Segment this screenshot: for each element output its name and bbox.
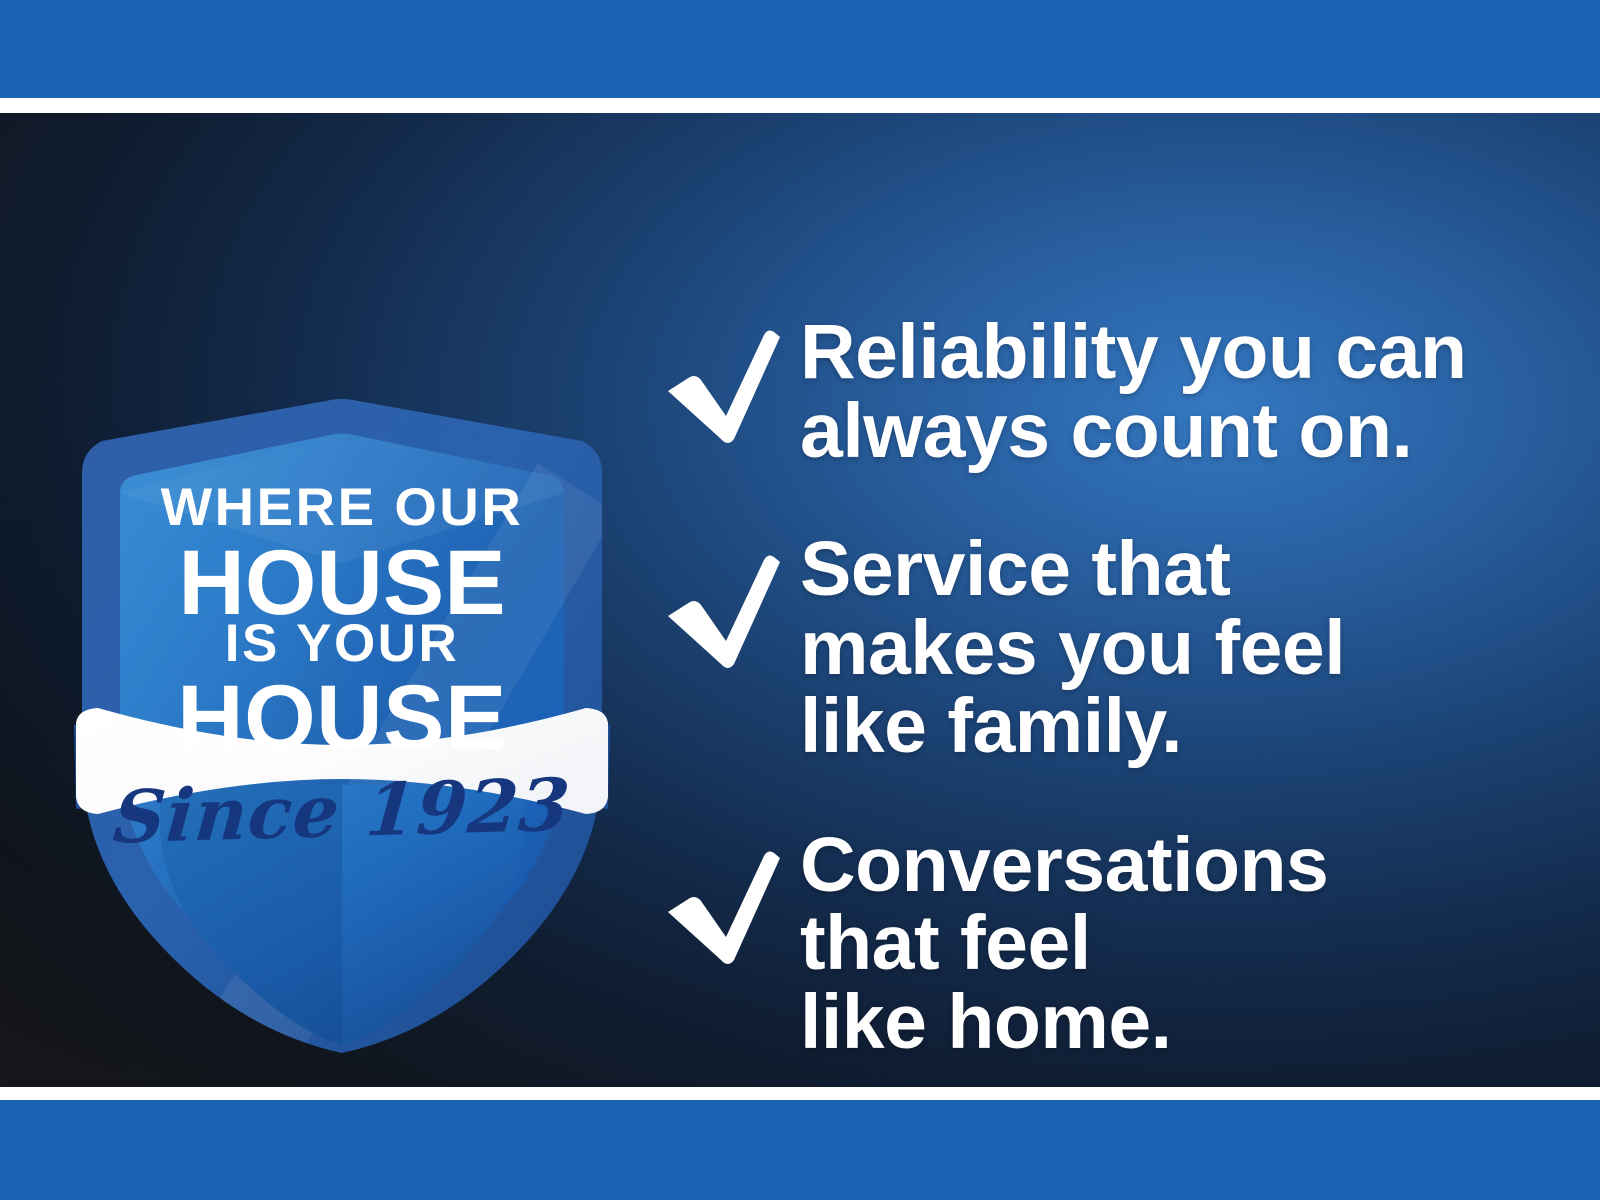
badge-line-is-your: IS YOUR bbox=[68, 617, 616, 670]
feature-text: Reliability you can always count on. bbox=[800, 313, 1560, 470]
feature-item: Service that makes you feel like family. bbox=[660, 530, 1560, 766]
feature-item: Conversations that feel like home. bbox=[660, 826, 1560, 1062]
checkmark-icon bbox=[660, 826, 800, 966]
feature-text: Conversations that feel like home. bbox=[800, 826, 1560, 1062]
poster-canvas: WHERE OUR HOUSE IS YOUR HOUSE Since 1923… bbox=[0, 113, 1600, 1087]
badge-line-where-our: WHERE OUR bbox=[60, 481, 624, 534]
feature-item: Reliability you can always count on. bbox=[660, 313, 1560, 470]
bottom-brand-bar bbox=[0, 1100, 1600, 1200]
checkmark-icon bbox=[660, 530, 800, 670]
checkmark-icon bbox=[660, 313, 800, 445]
feature-text: Service that makes you feel like family. bbox=[800, 530, 1560, 766]
promo-poster: WHERE OUR HOUSE IS YOUR HOUSE Since 1923… bbox=[0, 0, 1600, 1200]
badge-shield: WHERE OUR HOUSE IS YOUR HOUSE Since 1923 bbox=[68, 393, 616, 1063]
badge-since-banner-text: Since 1923 bbox=[65, 767, 618, 854]
top-brand-bar bbox=[0, 0, 1600, 98]
badge-line-house-bottom: HOUSE bbox=[68, 672, 616, 764]
feature-list: Reliability you can always count on. Ser… bbox=[660, 313, 1560, 1087]
